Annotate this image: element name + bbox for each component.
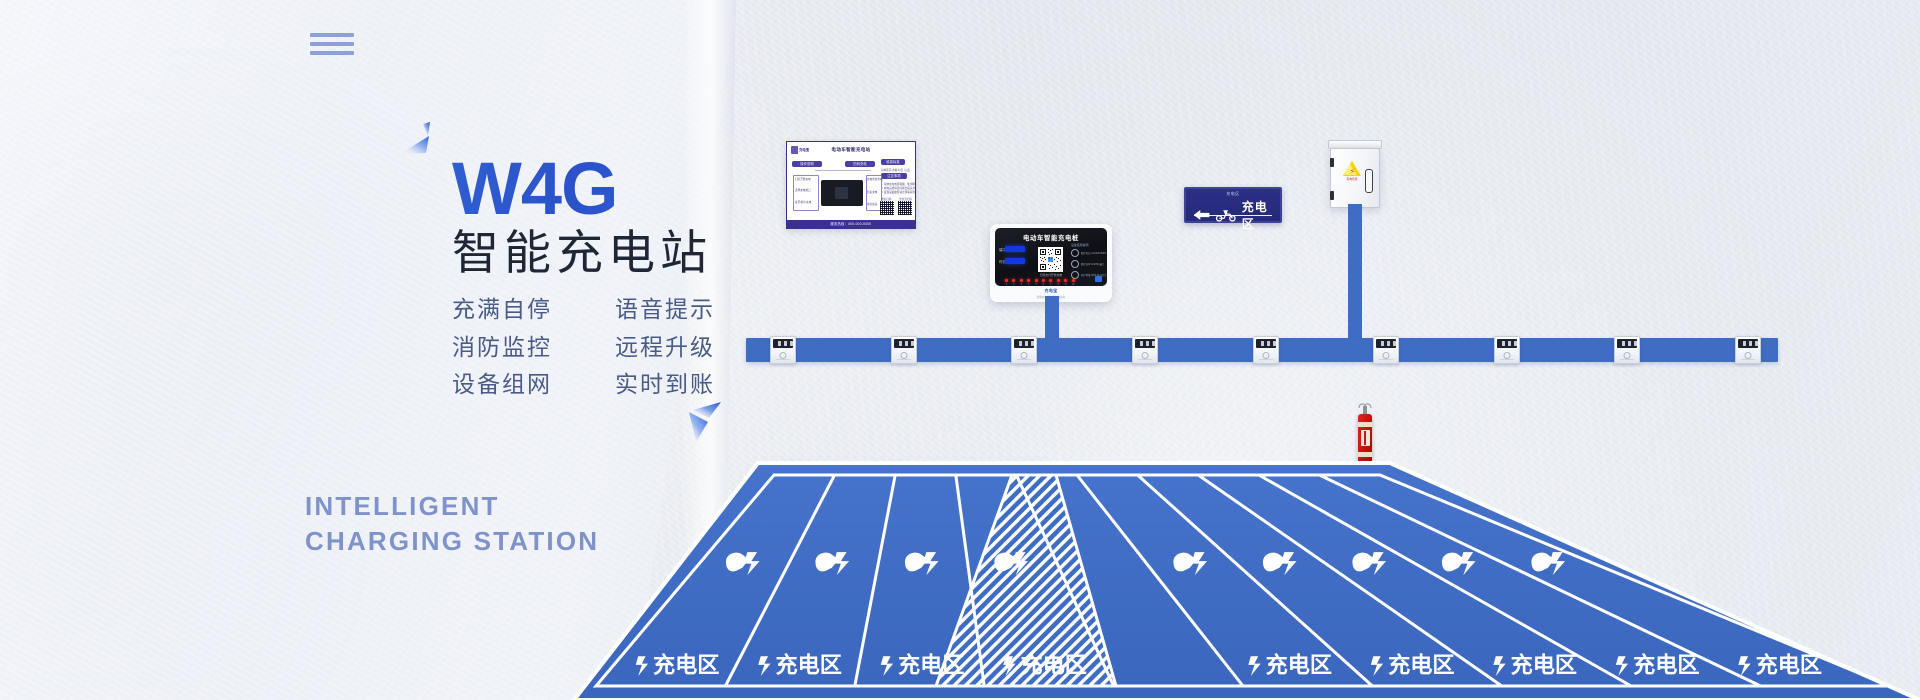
english-subtitle: INTELLIGENT CHARGING STATION [305,489,599,559]
socket-face-3 [1014,339,1034,348]
distribution-box: ⚡ 有电危险 [1330,140,1380,208]
pile-display-1 [1005,246,1025,252]
poster-flow-right-2: 结束充电 [867,190,877,194]
pile-port-number-9: 9 [1064,283,1067,286]
pile-port-led-8 [1057,279,1060,282]
pile-info-row-1: 额定电压 AC220V/50Hz [1071,249,1107,257]
hamburger-menu-icon[interactable] [310,33,354,55]
direction-sign-caption: 充电区 [1186,191,1280,197]
poster-section-4: 注意事项 [881,173,907,179]
extinguisher-label [1361,430,1370,446]
distribution-box-handle[interactable] [1365,169,1373,193]
poster-flow-right-3: 拔出插头 [867,202,877,206]
hamburger-bar-1 [310,33,354,37]
pile-qr-code[interactable] [1038,247,1063,272]
outlet-socket-9[interactable] [1735,336,1761,364]
svg-text:充电区: 充电区 [1633,652,1699,678]
svg-text:充电区: 充电区 [1756,652,1822,678]
poster-device-image [821,180,863,206]
illustration-scene: 充电宝 电动车智能充电站 操作说明 扫码充电 收费标准 功率区间 金额 时长 元… [560,0,1920,700]
pile-qr-caption: 扫码支付开始充电 [1033,273,1069,277]
svg-text:充电区: 充电区 [775,652,841,678]
socket-bar-7 [1500,359,1514,361]
pile-port-number-10: 10 [1072,283,1075,286]
poster-fee-text: 功率区间 金额 时长 元/度 [881,168,910,172]
poster-logo-text: 充电宝 [799,147,809,152]
pile-port-number-7: 7 [1049,283,1052,286]
socket-bar-1 [776,359,790,361]
pile-port-number-2: 2 [1012,283,1015,286]
poster-flow-left-2: 选择充电端口 [795,188,811,192]
pile-port-led-2 [1012,279,1015,282]
conduit-riser-box [1348,204,1362,344]
svg-text:充电区: 充电区 [1020,652,1086,678]
pile-port-led-3 [1020,279,1023,282]
socket-face-1 [773,339,793,348]
outlet-socket-7[interactable] [1494,336,1520,364]
hamburger-bar-2 [310,42,354,46]
hamburger-bar-3 [310,51,354,55]
extinguisher-band-top [1358,422,1372,427]
conduit-riser-pile [1045,296,1059,344]
svg-text:充电区: 充电区 [653,652,719,678]
poster-note-3: 3. 发现设备故障请立即联系管理员处理维修。 [881,190,916,194]
svg-text:充电区: 充电区 [898,652,964,678]
pile-port-led-4 [1027,279,1030,282]
poster-footer: 服务热线：400-000-0000 [787,220,915,228]
socket-bar-4 [1138,359,1152,361]
socket-bar-6 [1379,359,1393,361]
charging-pile-title: 电动车智能充电桩 [995,233,1107,242]
english-line-2: CHARGING STATION [305,524,599,559]
socket-bar-8 [1620,359,1634,361]
socket-face-4 [1135,339,1155,348]
pile-port-led-5 [1035,279,1038,282]
poster-flow-left-3: 投币/刷卡充电 [795,200,811,204]
socket-bar-2 [897,359,911,361]
pile-port-indicators [1005,279,1075,282]
power-icon [1071,260,1079,268]
pile-port-number-3: 3 [1020,283,1023,286]
pile-info-header: 设备使用说明 [1071,243,1107,247]
svg-text:充电区: 充电区 [1266,652,1332,678]
outlet-socket-1[interactable] [770,336,796,364]
banner-stage: W4G 智能充电站 充满自停 语音提示 消防监控 远程升级 设备组网 实时到账 … [0,0,1920,700]
outlet-socket-5[interactable] [1253,336,1279,364]
poster-qr-wechat [880,201,894,215]
poster-section-3: 收费标准 [881,159,905,165]
pile-info-row-2: 额定功率 1000W 最大 [1071,260,1107,268]
pile-port-number-5: 5 [1035,283,1038,286]
charging-pile-unit[interactable]: 电动车智能充电桩 端口 时长 [990,224,1112,302]
poster-qr-alipay [898,201,912,215]
pile-port-led-9 [1064,279,1067,282]
pile-display-2 [1005,258,1025,264]
parking-floor: 充电区充电区充电区充电区充电区充电区充电区充电区充电区 [560,455,1920,700]
poster-flow-left-1: 扫码开始充电 [795,177,811,181]
poster-flow-right-1: 充电状态查看 [867,177,883,181]
pile-port-number-8: 8 [1057,283,1060,286]
pile-port-numbers: 12345678910 [1005,283,1075,286]
poster-section-1: 操作说明 [792,161,822,167]
socket-face-5 [1256,339,1276,348]
socket-bar-3 [1017,359,1031,361]
charging-pile-panel: 电动车智能充电桩 端口 时长 [995,228,1107,286]
warning-text: 有电危险 [1340,177,1364,181]
pile-port-led-10 [1072,279,1075,282]
direction-sign-underline [1194,215,1272,217]
wall-poster: 充电宝 电动车智能充电站 操作说明 扫码充电 收费标准 功率区间 金额 时长 元… [786,141,916,229]
outlet-socket-8[interactable] [1614,336,1640,364]
fire-extinguisher-icon [1356,400,1374,462]
pile-port-number-1: 1 [1005,283,1008,286]
socket-face-6 [1376,339,1396,348]
svg-text:充电区: 充电区 [1388,652,1454,678]
socket-bar-9 [1741,359,1755,361]
socket-face-8 [1617,339,1637,348]
socket-face-7 [1497,339,1517,348]
pile-port-led-6 [1042,279,1045,282]
pile-brand: 充电宝 [995,288,1107,294]
pile-port-led-7 [1049,279,1052,282]
pile-port-number-4: 4 [1027,283,1030,286]
pile-card-reader-icon[interactable] [1095,276,1102,282]
outlet-socket-2[interactable] [891,336,917,364]
svg-text:充电区: 充电区 [1511,652,1577,678]
pile-port-led-1 [1005,279,1008,282]
poster-section-2: 扫码充电 [845,161,875,167]
socket-face-9 [1738,339,1758,348]
outlet-socket-4[interactable] [1132,336,1158,364]
pile-port-number-6: 6 [1042,283,1045,286]
english-line-1: INTELLIGENT [305,489,599,524]
voltage-icon [1071,249,1079,257]
socket-face-2 [894,339,914,348]
direction-sign: 充电区 充电区 [1184,187,1282,223]
protection-icon [1071,271,1079,279]
outlet-socket-6[interactable] [1373,336,1399,364]
socket-bar-5 [1259,359,1273,361]
outlet-socket-3[interactable] [1011,336,1037,364]
